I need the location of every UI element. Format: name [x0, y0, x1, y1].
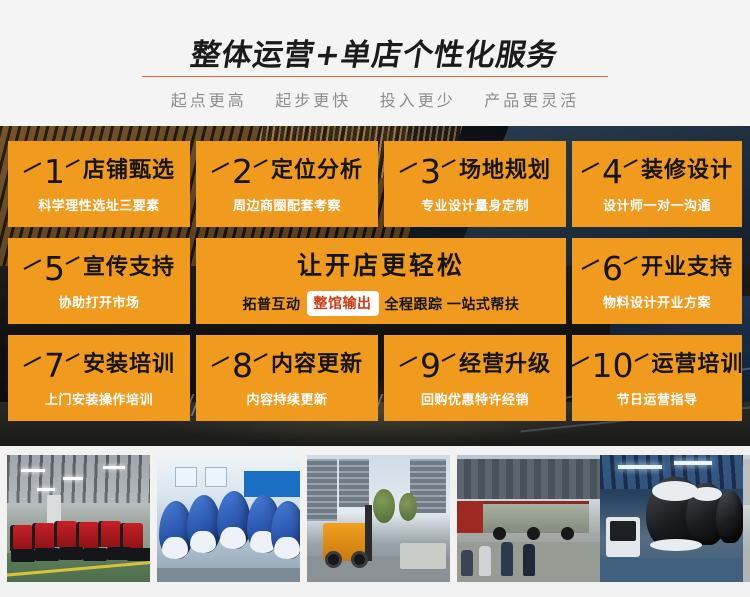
step-card-6-desc: 物料设计开业方案	[603, 292, 711, 311]
step-card-1-desc: 科学理性选址三要素	[38, 195, 160, 214]
step-card-8[interactable]: 8 内容更新 内容持续更新	[196, 335, 378, 421]
step-card-8-number: 8	[232, 349, 253, 382]
slash-icon	[254, 358, 269, 373]
step-card-7-number: 7	[44, 349, 65, 382]
step-card-4-desc: 设计师一对一沟通	[603, 195, 711, 214]
slash-icon	[399, 358, 419, 373]
slash-icon	[581, 261, 601, 276]
slash-icon	[442, 164, 457, 179]
step-card-9[interactable]: 9 经营升级 回购优惠特许经销	[384, 335, 566, 421]
step-card-6-head: 6 开业支持	[581, 252, 733, 285]
step-card-3-head: 3 场地规划	[399, 155, 551, 188]
step-card-2-desc: 周边商圈配套考察	[233, 195, 341, 214]
step-card-10-title: 运营培训	[652, 354, 744, 376]
photo-strip	[0, 446, 750, 597]
step-card-3-title: 场地规划	[459, 160, 551, 182]
step-card-6[interactable]: 6 开业支持 物料设计开业方案	[572, 238, 742, 324]
slash-icon	[23, 261, 43, 276]
step-card-5-number: 5	[44, 252, 65, 285]
step-card-2-number: 2	[232, 155, 253, 188]
step-card-1-head: 1 店铺甄选	[23, 155, 175, 188]
step-card-3-desc: 专业设计量身定制	[421, 195, 529, 214]
step-card-10[interactable]: 10 运营培训 节日运营指导	[572, 335, 742, 421]
step-card-1-title: 店铺甄选	[83, 160, 175, 182]
step-card-4-head: 4 装修设计	[581, 155, 733, 188]
photo-thumbnail-3[interactable]	[307, 455, 450, 582]
step-card-9-title: 经营升级	[459, 354, 551, 376]
slash-icon	[211, 164, 231, 179]
step-card-7-title: 安装培训	[83, 354, 175, 376]
slash-icon	[23, 164, 43, 179]
step-card-6-number: 6	[602, 252, 623, 285]
step-card-7-desc: 上门安装操作培训	[45, 389, 153, 408]
photo-thumbnail-6[interactable]	[600, 455, 743, 582]
subtitle-item-3: 产品更灵活	[484, 93, 579, 110]
slash-icon	[211, 358, 231, 373]
step-card-2-title: 定位分析	[271, 160, 363, 182]
slash-icon	[23, 358, 43, 373]
step-card-5-desc: 协助打开市场	[58, 292, 139, 311]
step-card-2-head: 2 定位分析	[211, 155, 363, 188]
banner-highlight-badge: 整馆输出	[307, 291, 379, 316]
banner-sub-after: 全程跟踪 一站式帮扶	[385, 294, 520, 314]
step-card-8-title: 内容更新	[271, 354, 363, 376]
slash-icon	[635, 358, 650, 373]
subtitle-item-2: 投入更少	[380, 93, 456, 110]
slash-icon	[66, 261, 81, 276]
center-banner-subtitle: 拓普互动 整馆输出 全程跟踪 一站式帮扶	[243, 291, 520, 316]
step-card-5[interactable]: 5 宣传支持 协助打开市场	[8, 238, 190, 324]
subtitle-item-1: 起步更快	[275, 93, 351, 110]
slash-icon	[66, 164, 81, 179]
slash-icon	[581, 164, 601, 179]
subtitle-item-0: 起点更高	[171, 93, 247, 110]
slash-icon	[254, 164, 269, 179]
step-card-1-number: 1	[44, 155, 65, 188]
photo-thumbnail-4[interactable]	[457, 455, 600, 582]
slash-icon	[66, 358, 81, 373]
slash-icon	[442, 358, 457, 373]
step-card-3-number: 3	[420, 155, 441, 188]
photo-thumbnail-1[interactable]	[7, 455, 150, 582]
header-subtitle: 起点更高 起步更快 投入更少 产品更灵活	[0, 87, 750, 111]
step-card-8-head: 8 内容更新	[211, 349, 363, 382]
slash-icon	[571, 358, 591, 373]
promo-page: 整体运营+单店个性化服务 起点更高 起步更快 投入更少 产品更灵活 1	[0, 0, 750, 597]
step-card-4-number: 4	[602, 155, 623, 188]
center-banner-title: 让开店更轻松	[297, 246, 465, 282]
step-card-8-desc: 内容持续更新	[246, 389, 327, 408]
center-banner[interactable]: 让开店更轻松 拓普互动 整馆输出 全程跟踪 一站式帮扶	[196, 238, 566, 324]
step-card-5-head: 5 宣传支持	[23, 252, 175, 285]
step-card-10-head: 10 运营培训	[571, 349, 744, 382]
step-card-10-number: 10	[592, 349, 634, 382]
step-card-10-desc: 节日运营指导	[616, 389, 697, 408]
step-card-4[interactable]: 4 装修设计 设计师一对一沟通	[572, 141, 742, 227]
step-card-2[interactable]: 2 定位分析 周边商圈配套考察	[196, 141, 378, 227]
step-card-7-head: 7 安装培训	[23, 349, 175, 382]
step-card-9-number: 9	[420, 349, 441, 382]
title-divider	[142, 76, 608, 77]
step-card-9-head: 9 经营升级	[399, 349, 551, 382]
banner-sub-before: 拓普互动	[243, 294, 301, 314]
step-card-3[interactable]: 3 场地规划 专业设计量身定制	[384, 141, 566, 227]
step-card-6-title: 开业支持	[641, 257, 733, 279]
photo-thumbnail-2[interactable]	[157, 455, 300, 582]
service-steps-band: 1 店铺甄选 科学理性选址三要素 2 定位分析 周边商圈配套考察 3 场地规划	[0, 126, 750, 446]
step-card-4-title: 装修设计	[641, 160, 733, 182]
page-header: 整体运营+单店个性化服务 起点更高 起步更快 投入更少 产品更灵活	[0, 0, 750, 126]
slash-icon	[399, 164, 419, 179]
page-title: 整体运营+单店个性化服务	[0, 30, 750, 74]
step-card-1[interactable]: 1 店铺甄选 科学理性选址三要素	[8, 141, 190, 227]
slash-icon	[624, 261, 639, 276]
step-card-5-title: 宣传支持	[83, 257, 175, 279]
step-card-7[interactable]: 7 安装培训 上门安装操作培训	[8, 335, 190, 421]
step-card-9-desc: 回购优惠特许经销	[421, 389, 529, 408]
slash-icon	[624, 164, 639, 179]
